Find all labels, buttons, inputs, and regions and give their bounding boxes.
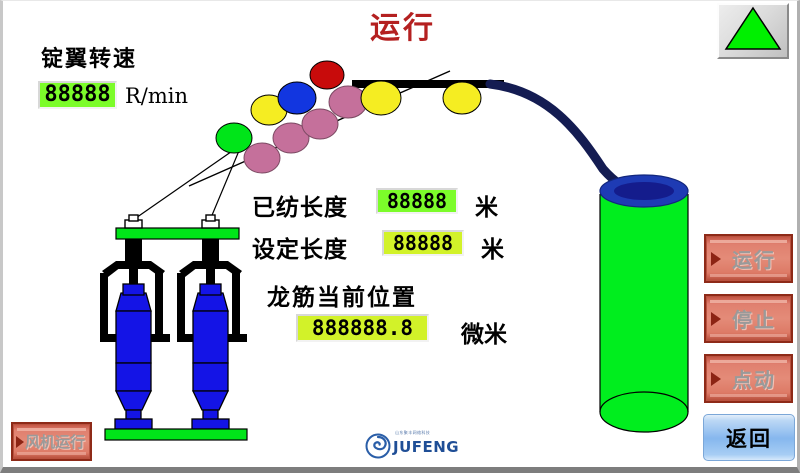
yarn-thread-right (210, 146, 241, 220)
spun-length-label: 已纺长度 (252, 188, 348, 222)
stop-button-label: 停止 (721, 304, 791, 333)
roller-yellow-3 (443, 82, 481, 114)
set-length-unit: 米 (481, 230, 504, 264)
roller-pink-3 (302, 109, 338, 139)
sliver-path (490, 84, 633, 191)
speed-unit: R/min (125, 84, 188, 108)
page-title: 运行 (333, 3, 473, 47)
rib-position-value[interactable]: 888888.8 (296, 314, 429, 342)
play-triangle-icon (16, 436, 24, 448)
fan-run-button-label: 风机运行 (24, 431, 90, 452)
set-length-value[interactable]: 88888 (382, 230, 464, 256)
triangle-up-icon (723, 5, 783, 53)
spindle-left (100, 239, 170, 429)
spindle-right (177, 239, 247, 429)
button-highlight (710, 300, 787, 303)
roller-blue (278, 82, 316, 114)
roller-yellow-2 (361, 81, 401, 115)
spindle-assembly (100, 215, 247, 440)
lower-rail (105, 429, 247, 440)
flyer-top-left (125, 215, 142, 228)
swirl-logo-icon (365, 433, 391, 459)
button-highlight (710, 240, 787, 243)
hmi-screen: 运行 锭翼转速 88888 R/min 已纺长度 88888 米 设定长度 88… (0, 0, 800, 473)
return-button[interactable]: 返回 (703, 414, 795, 461)
stop-button[interactable]: 停止 (704, 294, 793, 343)
play-triangle-icon (711, 372, 721, 386)
logo-text: JUFENG (393, 438, 459, 456)
flyer-top-right (202, 215, 219, 228)
roller-pink-1 (244, 143, 280, 173)
rib-position-label: 龙筋当前位置 (267, 278, 417, 312)
rib-position-unit: 微米 (461, 315, 507, 349)
upper-rail (116, 228, 239, 239)
jog-button[interactable]: 点动 (704, 354, 793, 403)
play-triangle-icon (711, 312, 721, 326)
button-highlight-bottom (17, 452, 86, 455)
spun-length-value[interactable]: 88888 (376, 188, 458, 214)
roller-red (310, 61, 344, 89)
button-highlight (710, 360, 787, 363)
button-highlight-bottom (710, 274, 787, 277)
sliver-can (600, 175, 688, 432)
play-triangle-icon (711, 252, 721, 266)
set-length-label: 设定长度 (252, 230, 348, 264)
speed-label: 锭翼转速 (41, 41, 137, 73)
speed-value[interactable]: 88888 (38, 81, 117, 109)
jog-button-label: 点动 (721, 364, 791, 393)
button-highlight-bottom (710, 394, 787, 397)
spun-length-unit: 米 (475, 188, 498, 222)
run-button[interactable]: 运行 (704, 234, 793, 283)
run-button-label: 运行 (721, 244, 791, 273)
yarn-thread-left (133, 147, 238, 220)
fan-run-button[interactable]: 风机运行 (11, 422, 92, 461)
logo-subtext: 山东聚丰网络科技 (395, 430, 430, 436)
roller-green (216, 123, 252, 153)
up-arrow-button[interactable] (717, 3, 789, 59)
button-highlight-bottom (710, 334, 787, 337)
company-logo: 山东聚丰网络科技 JUFENG (365, 429, 457, 459)
